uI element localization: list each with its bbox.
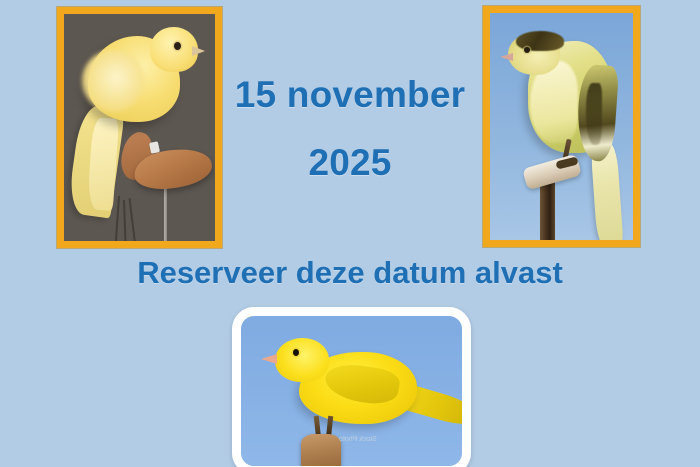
save-the-date-tagline: Reserveer deze datum alvast: [0, 255, 700, 291]
bird-beak: [192, 46, 205, 56]
tail-strand: [128, 198, 137, 241]
save-the-date-poster: 15 november 2025 Reserveer deze datum al…: [0, 0, 700, 467]
tail-strand: [114, 196, 120, 241]
variegated-green-canary-photo: [483, 6, 640, 247]
tail-strand: [123, 200, 127, 241]
cork-branch-perch: [301, 434, 341, 466]
event-year-line: 2025: [0, 142, 700, 184]
photo-watermark: Stock Photo: [339, 436, 377, 443]
photo-canvas-left: [64, 14, 215, 241]
bird-beak: [500, 53, 513, 61]
fluffy-yellow-canary-photo: [57, 7, 222, 248]
bird-head: [275, 338, 329, 382]
perch-post: [540, 179, 555, 240]
event-date-line: 15 november: [0, 74, 700, 116]
yellow-canary-photo: Stock Photo: [232, 307, 471, 467]
photo-canvas-bottom: Stock Photo: [241, 316, 462, 466]
photo-canvas-right: [490, 13, 633, 240]
bird-eye: [174, 42, 181, 50]
perch-rod: [164, 182, 167, 241]
bird-eye: [524, 47, 530, 53]
bird-beak: [261, 354, 277, 364]
bird-eye: [293, 349, 299, 356]
bird-head: [150, 27, 198, 72]
